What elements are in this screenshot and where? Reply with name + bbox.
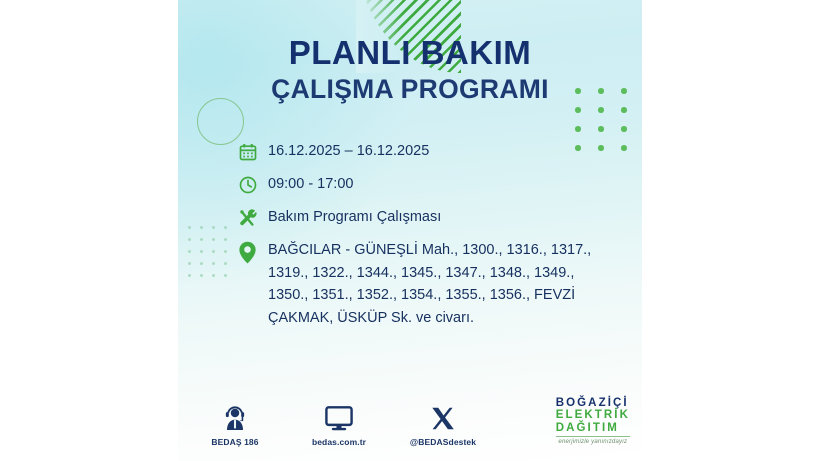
brand-line-2: ELEKTRİK bbox=[556, 409, 630, 422]
address-line: BAĞCILAR - GÜNEŞLİ Mah., 1300., 1316., 1… bbox=[268, 242, 591, 258]
contact-item-website[interactable]: bedas.com.tr bbox=[300, 401, 378, 447]
calendar-icon bbox=[238, 140, 268, 164]
contact-label-x: @BEDASdestek bbox=[404, 437, 482, 447]
details-list: 16.12.2025 – 16.12.2025 09:00 - 17:00 bbox=[238, 140, 628, 338]
contact-item-x[interactable]: @BEDASdestek bbox=[404, 401, 482, 447]
contact-footer: BEDAŞ 186 bedas.com.tr bbox=[196, 401, 482, 447]
title-primary: PLANLI BAKIM bbox=[178, 36, 642, 71]
address-line: 1319., 1322., 1344., 1345., 1347., 1348.… bbox=[268, 265, 574, 281]
detail-row-time: 09:00 - 17:00 bbox=[238, 173, 628, 197]
title-secondary: ÇALIŞMA PROGRAMI bbox=[178, 74, 642, 104]
detail-value-address: BAĞCILAR - GÜNEŞLİ Mah., 1300., 1316., 1… bbox=[268, 239, 591, 329]
contact-label-phone: BEDAŞ 186 bbox=[196, 437, 274, 447]
address-line: ÇAKMAK, ÜSKÜP Sk. ve civarı. bbox=[268, 310, 474, 326]
detail-row-work-type: Bakım Programı Çalışması bbox=[238, 206, 628, 230]
screenshot-canvas: PLANLI BAKIM ÇALIŞMA PROGRAMI bbox=[0, 0, 820, 461]
brand-line-1: BOĞAZİÇİ bbox=[556, 397, 630, 410]
call-center-agent-icon bbox=[196, 401, 274, 431]
detail-row-address: BAĞCILAR - GÜNEŞLİ Mah., 1300., 1316., 1… bbox=[238, 239, 628, 329]
location-pin-icon bbox=[238, 239, 268, 265]
contact-item-phone[interactable]: BEDAŞ 186 bbox=[196, 401, 274, 447]
clock-icon bbox=[238, 173, 268, 197]
contact-label-website: bedas.com.tr bbox=[300, 437, 378, 447]
monitor-icon bbox=[300, 401, 378, 431]
detail-row-date: 16.12.2025 – 16.12.2025 bbox=[238, 140, 628, 164]
maintenance-notice-poster: PLANLI BAKIM ÇALIŞMA PROGRAMI bbox=[178, 0, 642, 461]
brand-tagline: enerjimizle yanınızdayız bbox=[556, 436, 630, 445]
page-title: PLANLI BAKIM ÇALIŞMA PROGRAMI bbox=[178, 36, 642, 104]
x-twitter-icon bbox=[404, 401, 482, 431]
circle-outline-decoration bbox=[197, 98, 244, 145]
bedas-logo: BOĞAZİÇİ ELEKTRİK DAĞITIM enerjimizle ya… bbox=[556, 397, 630, 446]
detail-value-time: 09:00 - 17:00 bbox=[268, 173, 353, 195]
detail-value-date: 16.12.2025 – 16.12.2025 bbox=[268, 140, 429, 162]
address-line: 1350., 1351., 1352., 1354., 1355., 1356.… bbox=[268, 287, 575, 303]
brand-line-3: DAĞITIM bbox=[556, 422, 630, 435]
dot-grid-decoration-left bbox=[188, 226, 236, 286]
tools-icon bbox=[238, 206, 268, 230]
detail-value-work-type: Bakım Programı Çalışması bbox=[268, 206, 441, 228]
